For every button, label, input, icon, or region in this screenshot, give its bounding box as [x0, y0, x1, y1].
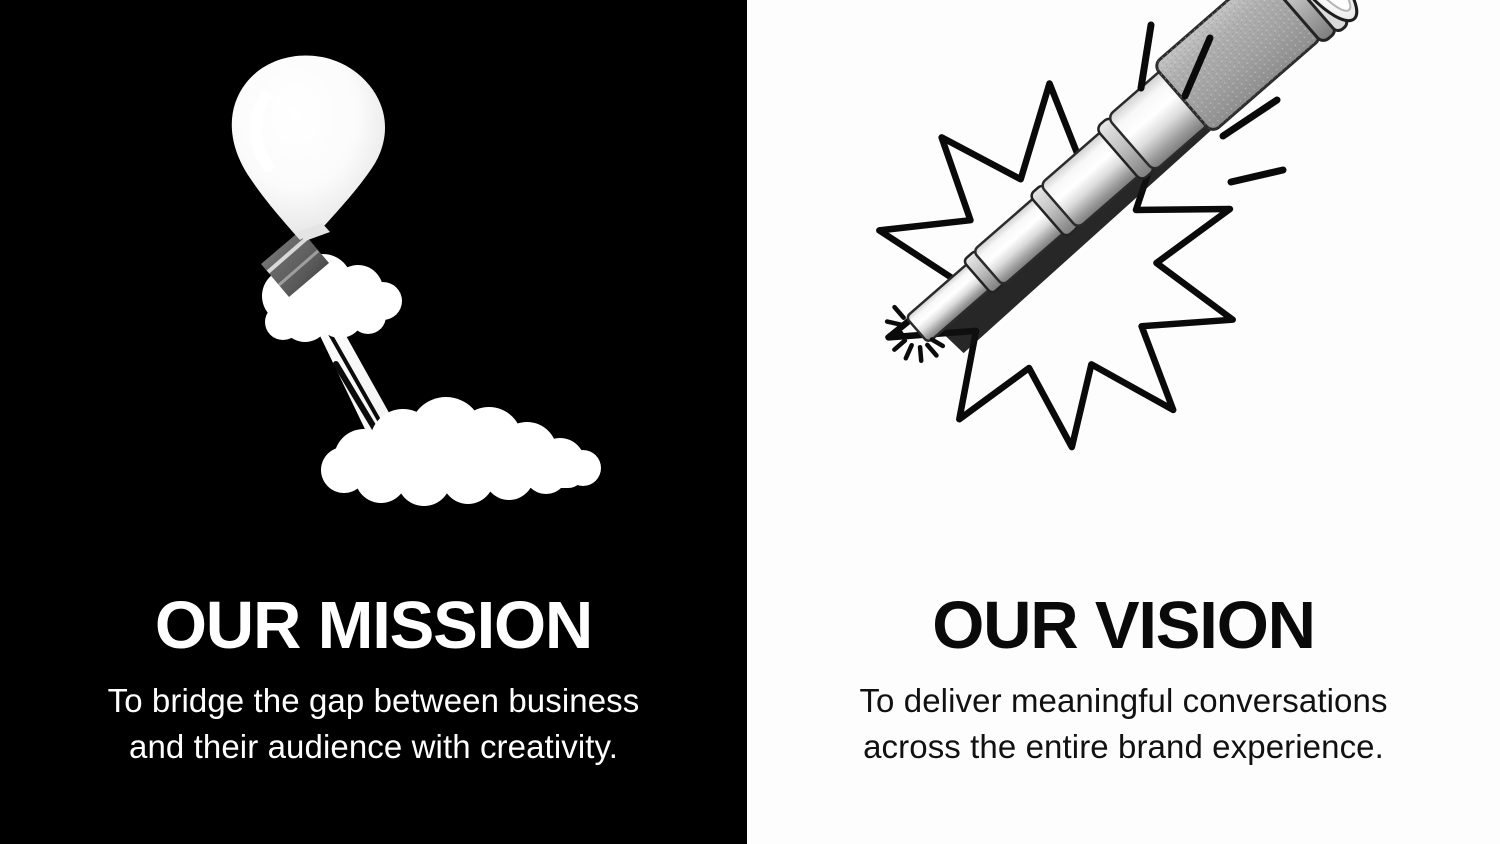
telescope-illustration — [747, 0, 1500, 580]
lightbulb-rocket-illustration — [0, 0, 747, 580]
vision-subtitle: To deliver meaningful conversations acro… — [747, 660, 1500, 770]
mission-subtitle-line-2: and their audience with creativity. — [0, 724, 747, 770]
page-title-mission: OUR MISSION — [0, 592, 747, 660]
lightbulb-glass — [232, 56, 385, 241]
panel-vision: OUR VISION To deliver meaningful convers… — [747, 0, 1500, 844]
telescope-body — [860, 0, 1376, 389]
vision-text-block: OUR VISION To deliver meaningful convers… — [747, 592, 1500, 770]
panel-mission: OUR MISSION To bridge the gap between bu… — [0, 0, 747, 844]
mission-vision-slide: OUR MISSION To bridge the gap between bu… — [0, 0, 1500, 844]
mission-text-block: OUR MISSION To bridge the gap between bu… — [0, 592, 747, 770]
mission-subtitle: To bridge the gap between business and t… — [0, 660, 747, 770]
vision-subtitle-line-1: To deliver meaningful conversations — [747, 678, 1500, 724]
mission-subtitle-line-1: To bridge the gap between business — [0, 678, 747, 724]
page-title-vision: OUR VISION — [747, 592, 1500, 660]
vision-subtitle-line-2: across the entire brand experience. — [747, 724, 1500, 770]
